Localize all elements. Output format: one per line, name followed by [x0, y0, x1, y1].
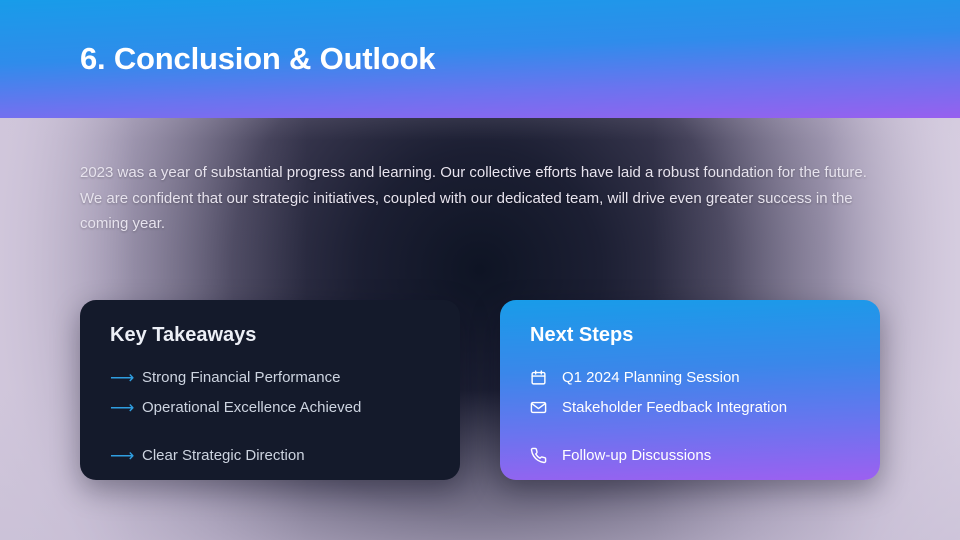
list-item-label: Clear Strategic Direction — [142, 448, 305, 463]
list-item-spacer — [110, 422, 430, 440]
card-next-steps-list: Q1 2024 Planning Session Stakeholder Fee… — [530, 362, 850, 470]
list-item-label: Stakeholder Feedback Integration — [562, 400, 787, 415]
arrow-right-icon: ⟶ — [110, 447, 130, 464]
list-item[interactable]: Q1 2024 Planning Session — [530, 362, 850, 392]
mail-icon — [530, 399, 550, 416]
list-item[interactable]: ⟶ Clear Strategic Direction — [110, 440, 430, 470]
list-item[interactable]: Follow-up Discussions — [530, 440, 850, 470]
list-item[interactable]: ⟶ Strong Financial Performance — [110, 362, 430, 392]
card-next-steps-title: Next Steps — [530, 324, 850, 346]
slide: 6. Conclusion & Outlook 2023 was a year … — [0, 0, 960, 540]
list-item[interactable]: ⟶ Operational Excellence Achieved — [110, 392, 430, 422]
card-next-steps: Next Steps Q1 2024 Planning Session — [500, 300, 880, 480]
card-key-takeaways: Key Takeaways ⟶ Strong Financial Perform… — [80, 300, 460, 480]
intro-paragraph: 2023 was a year of substantial progress … — [80, 160, 872, 237]
page-title: 6. Conclusion & Outlook — [80, 42, 435, 76]
phone-icon — [530, 447, 550, 464]
header-banner: 6. Conclusion & Outlook — [0, 0, 960, 118]
calendar-icon — [530, 369, 550, 386]
cards-row: Key Takeaways ⟶ Strong Financial Perform… — [80, 300, 880, 480]
list-item-label: Operational Excellence Achieved — [142, 400, 361, 415]
card-key-takeaways-list: ⟶ Strong Financial Performance ⟶ Operati… — [110, 362, 430, 470]
list-item[interactable]: Stakeholder Feedback Integration — [530, 392, 850, 422]
arrow-right-icon: ⟶ — [110, 369, 130, 386]
list-item-spacer — [530, 422, 850, 440]
list-item-label: Follow-up Discussions — [562, 448, 711, 463]
card-key-takeaways-title: Key Takeaways — [110, 324, 430, 346]
list-item-label: Strong Financial Performance — [142, 370, 340, 385]
arrow-right-icon: ⟶ — [110, 399, 130, 416]
list-item-label: Q1 2024 Planning Session — [562, 370, 740, 385]
